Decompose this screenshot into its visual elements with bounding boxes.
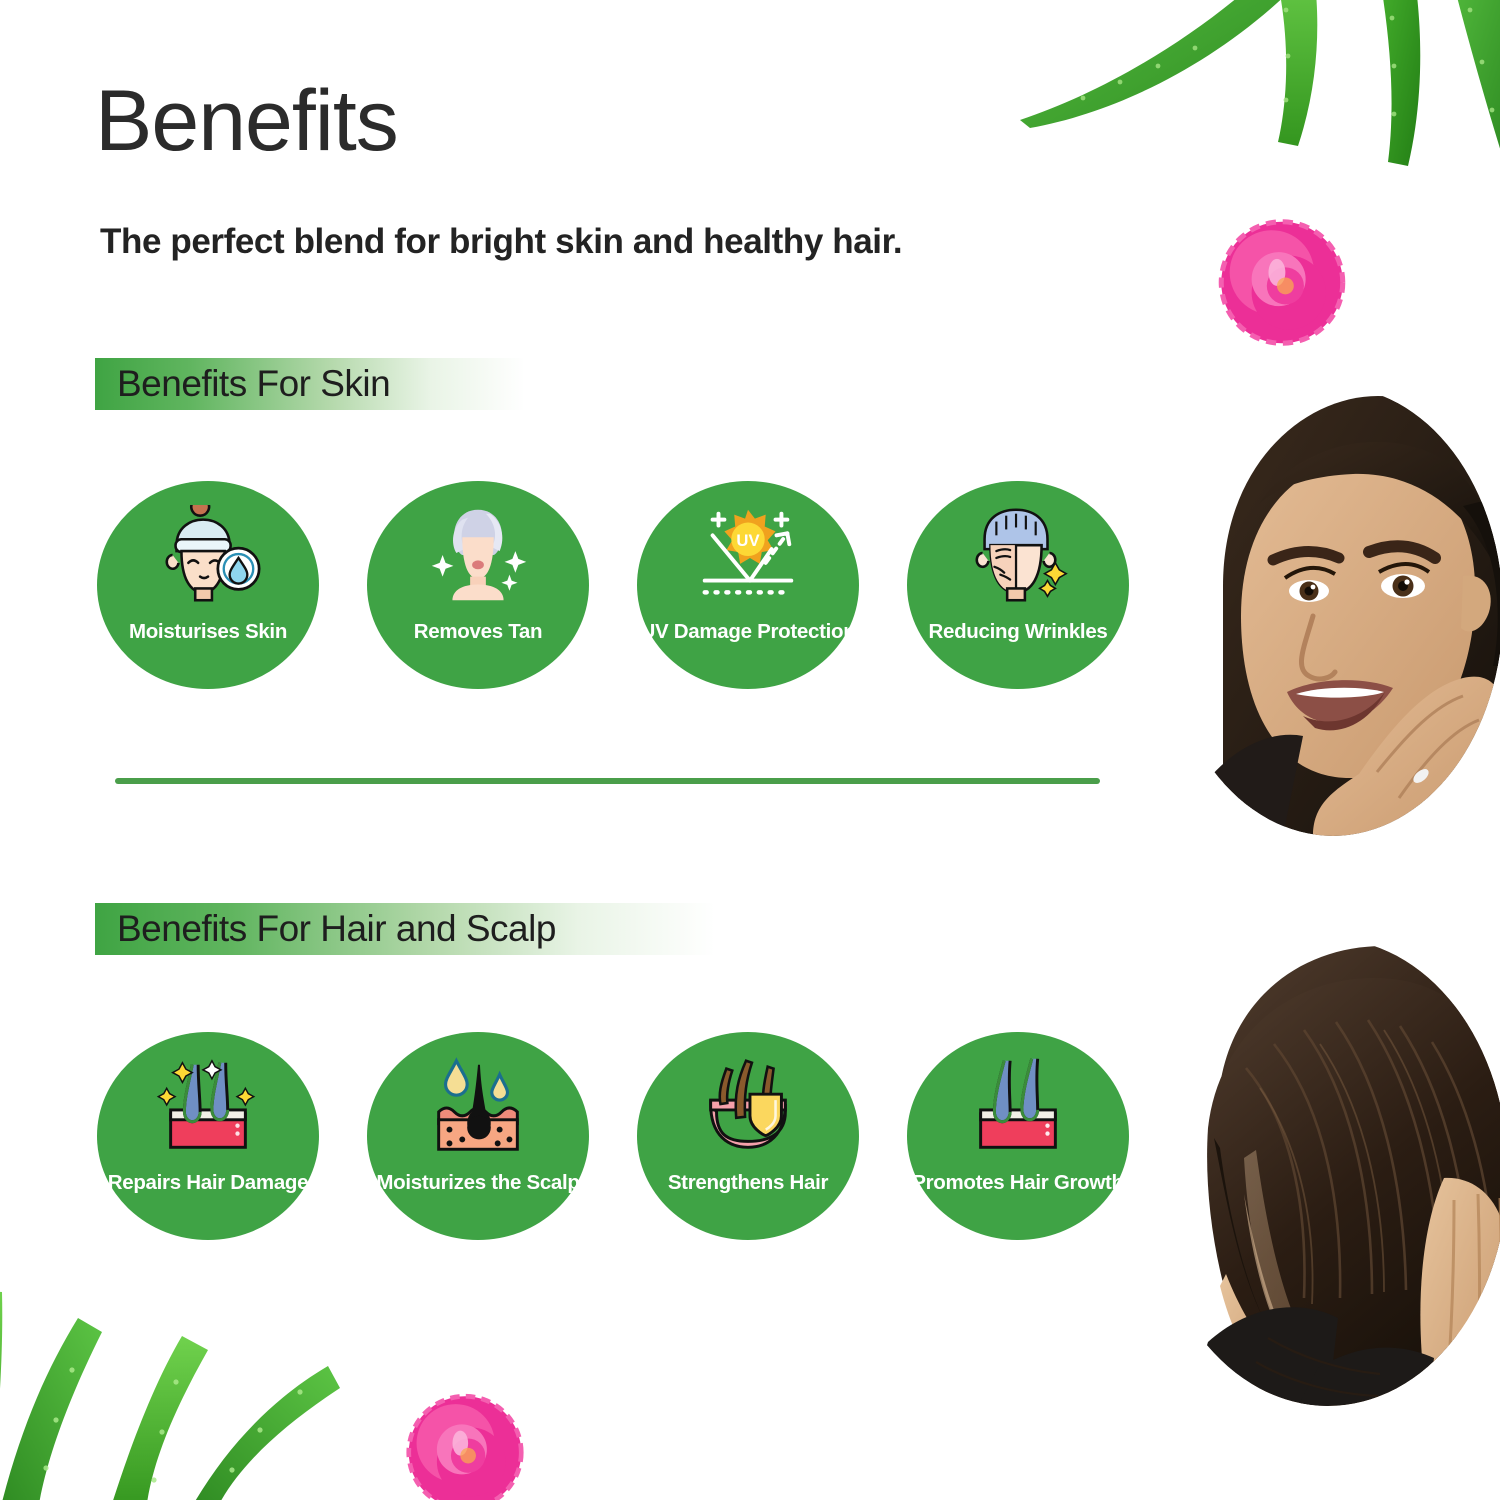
benefits-infographic: Benefits The perfect blend for bright sk… [0,0,1500,1500]
benefit-label: Removes Tan [367,621,589,644]
benefits-row-skin: Moisturises Skin Removes Tan [97,481,1129,689]
section-header-hair-label: Benefits For Hair and Scalp [95,908,556,950]
woman-touching-face-illustration [1163,386,1500,836]
woman-towel-wrap-sparkle-icon [419,505,537,605]
hair-follicle-growth-icon [959,1056,1077,1156]
benefit-reducing-wrinkles[interactable]: Reducing Wrinkles [907,481,1129,689]
benefit-promotes-hair-growth[interactable]: Promotes Hair Growth [907,1032,1129,1240]
page-title: Benefits [95,78,398,164]
benefit-label: UV Damage Protection [637,621,859,644]
benefit-label: Strengthens Hair [637,1172,859,1195]
benefit-repairs-hair-damage[interactable]: Repairs Hair Damage [97,1032,319,1240]
benefit-strengthens-hair[interactable]: Strengthens Hair [637,1032,859,1240]
section-header-skin: Benefits For Skin [95,358,525,410]
benefit-label: Promotes Hair Growth [907,1172,1129,1195]
benefit-moisturises-skin[interactable]: Moisturises Skin [97,481,319,689]
benefit-label: Moisturizes the Scalp [367,1172,589,1195]
aloe-leaves-top-right-icon [990,0,1500,200]
hair-shield-icon [689,1056,807,1156]
benefits-row-hair: Repairs Hair Damage Moisturizes the Scal… [97,1032,1129,1240]
section-header-hair: Benefits For Hair and Scalp [95,903,715,955]
benefit-label: Reducing Wrinkles [907,621,1129,644]
benefit-uv-damage-protection[interactable]: UV UV Damage Protection [637,481,859,689]
face-with-headband-water-drop-icon [149,505,267,605]
benefit-label: Repairs Hair Damage [97,1172,319,1195]
woman-touching-face-photo [1163,386,1500,836]
benefit-moisturizes-the-scalp[interactable]: Moisturizes the Scalp [367,1032,589,1240]
aloe-leaves-bottom-left-icon [0,1270,520,1500]
woman-washing-hair-photo [1148,938,1500,1406]
scalp-oil-droplet-icon [419,1056,537,1156]
woman-washing-hair-illustration [1148,938,1500,1406]
hair-follicle-sparkle-icon [149,1056,267,1156]
rose-bottom-left-icon [385,1390,545,1500]
half-wrinkled-face-icon [959,505,1077,605]
section-divider [115,778,1100,784]
benefit-removes-tan[interactable]: Removes Tan [367,481,589,689]
page-subtitle: The perfect blend for bright skin and he… [100,222,902,262]
uv-sun-label: UV [736,531,760,550]
uv-sun-shield-icon: UV [689,505,807,605]
benefit-label: Moisturises Skin [97,621,319,644]
rose-top-right-icon [1197,215,1367,350]
section-header-skin-label: Benefits For Skin [95,363,390,405]
